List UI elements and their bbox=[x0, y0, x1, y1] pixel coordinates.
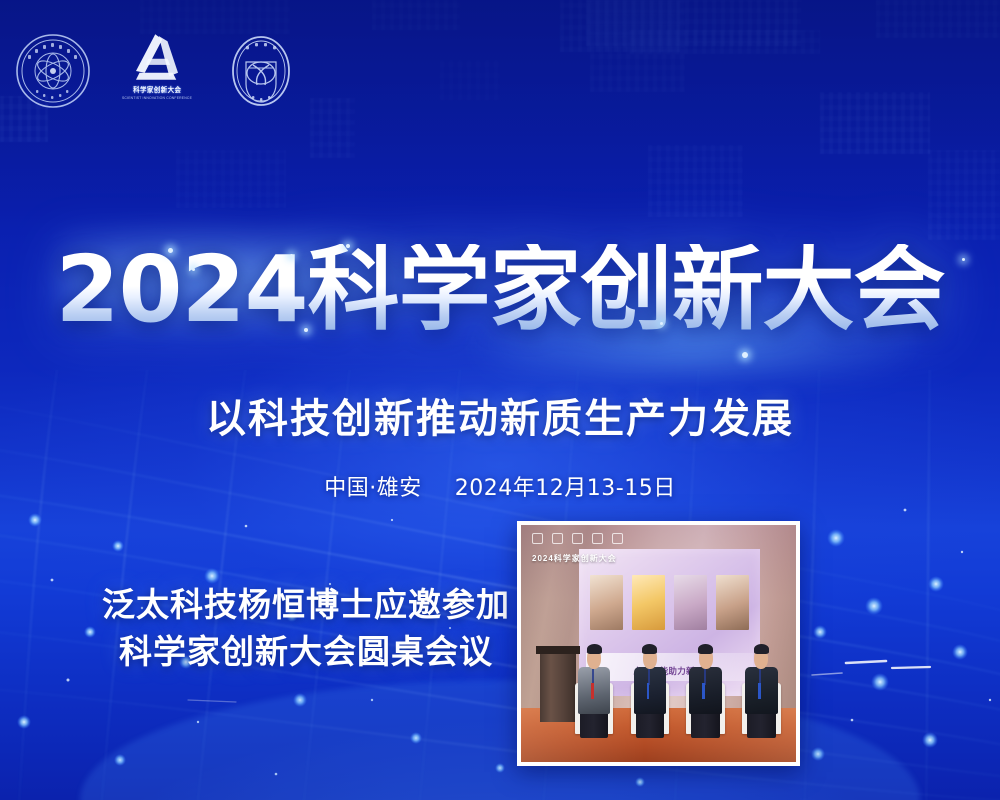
circular-academy-seal-icon bbox=[14, 32, 92, 110]
photo-podium bbox=[540, 651, 576, 722]
oval-institute-seal-icon bbox=[222, 32, 300, 110]
screen-portrait bbox=[674, 575, 708, 646]
triangle-logo-subline: SCIENTIST INNOVATION CONFERENCE bbox=[122, 96, 192, 100]
panelist bbox=[685, 639, 727, 739]
banner-icon-2 bbox=[552, 533, 563, 544]
screen-portrait-row bbox=[590, 575, 750, 646]
panelist bbox=[740, 639, 782, 739]
event-meta-line: 中国·雄安 2024年12月13-15日 bbox=[0, 470, 1000, 502]
triangle-logo-wordmark: 科学家创新大会 bbox=[133, 85, 181, 95]
event-photo-scene: 2024科学家创新大会 bbox=[521, 525, 796, 762]
banner-icon-1 bbox=[532, 533, 543, 544]
announcement-caption: 泛太科技杨恒博士应邀参加 科学家创新大会圆桌会议 bbox=[96, 582, 516, 676]
panelist bbox=[629, 639, 671, 739]
caption-line-1: 泛太科技杨恒博士应邀参加 bbox=[96, 582, 516, 629]
triangle-a-mark-icon: 科学家创新大会 SCIENTIST INNOVATION CONFERENCE bbox=[122, 32, 192, 110]
event-photo: 2024科学家创新大会 bbox=[517, 521, 800, 766]
panelist bbox=[573, 639, 615, 739]
poster-subtitle: 以科技创新推动新质生产力发展 bbox=[0, 386, 1000, 444]
event-date: 2024年12月13-15日 bbox=[455, 476, 676, 501]
page-title: 2024科学家创新大会 bbox=[0, 244, 1000, 336]
poster-canvas: 科学家创新大会 SCIENTIST INNOVATION CONFERENCE bbox=[0, 0, 1000, 800]
photo-stage-banner: 2024科学家创新大会 bbox=[532, 553, 617, 564]
banner-icon-5 bbox=[612, 533, 623, 544]
banner-icon-3 bbox=[572, 533, 583, 544]
photo-banner-icons bbox=[532, 533, 623, 544]
photo-panelists bbox=[573, 639, 782, 739]
banner-icon-4 bbox=[592, 533, 603, 544]
screen-portrait bbox=[716, 575, 750, 646]
screen-portrait bbox=[632, 575, 666, 646]
event-location: 中国·雄安 bbox=[324, 476, 422, 501]
logo-row: 科学家创新大会 SCIENTIST INNOVATION CONFERENCE bbox=[14, 32, 300, 110]
caption-line-2: 科学家创新大会圆桌会议 bbox=[96, 629, 516, 676]
screen-portrait bbox=[590, 575, 624, 646]
